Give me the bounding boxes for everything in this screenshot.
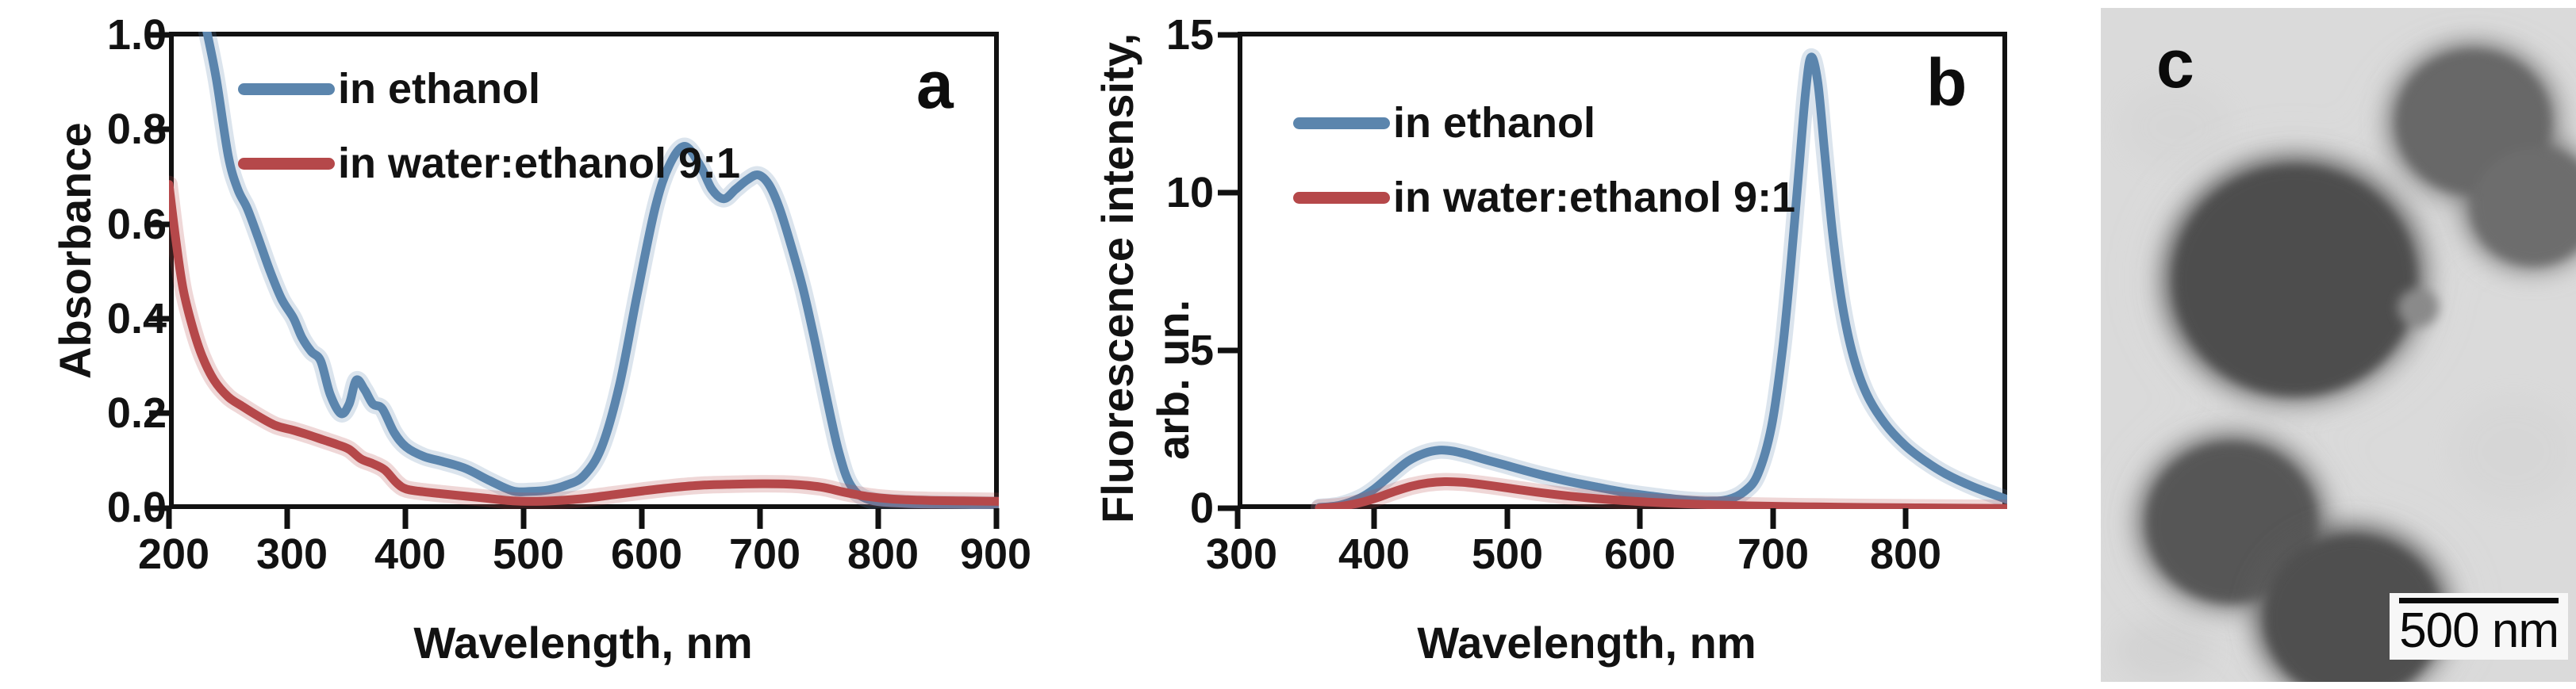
panel-c-tem-micrograph: c 500 nm — [2063, 0, 2576, 689]
figure-root: Absorbance 1.0 0.8 0.6 0.4 0.2 0.0 200 3… — [0, 0, 2576, 689]
panel-a-letter: a — [916, 52, 954, 118]
panel-a-ytick-0_8: 0.8 — [87, 108, 167, 151]
panel-b-xtick-400: 400 — [1338, 533, 1410, 576]
panel-b-y-axis-title: Fluorescence intensity, — [1092, 33, 1143, 523]
panel-b-xtick-300: 300 — [1206, 533, 1277, 576]
panel-b-x-axis-title: Wavelength, nm — [1417, 617, 1756, 668]
panel-a-x-axis-title: Wavelength, nm — [413, 617, 752, 668]
panel-b-xtick-700: 700 — [1737, 533, 1809, 576]
panel-b-ytick-10: 10 — [1134, 171, 1214, 214]
tem-image: c 500 nm — [2101, 8, 2576, 682]
panel-b-legend-swatch-ethanol — [1293, 117, 1390, 129]
scale-bar-label: 500 nm — [2399, 605, 2559, 656]
panel-a-xtick-700: 700 — [729, 533, 800, 576]
scale-bar-line — [2399, 598, 2559, 603]
panel-a-y-axis-title-text: Absorbance — [50, 122, 100, 379]
panel-a-ytick-0_2: 0.2 — [87, 392, 167, 434]
panel-b-ytick-5: 5 — [1134, 329, 1214, 372]
panel-a-legend-row-ethanol: in ethanol — [238, 67, 740, 110]
tem-particles — [2101, 8, 2576, 682]
panel-a-legend-label-ethanol: in ethanol — [338, 67, 540, 110]
panel-a-xtick-400: 400 — [374, 533, 446, 576]
panel-a-xtick-300: 300 — [256, 533, 328, 576]
panel-b-legend-row-water-ethanol: in water:ethanol 9:1 — [1293, 176, 1795, 219]
panel-b-legend-label-water-ethanol: in water:ethanol 9:1 — [1393, 176, 1795, 219]
panel-b-legend-swatch-water-ethanol — [1293, 192, 1390, 204]
panel-a-legend: in ethanol in water:ethanol 9:1 — [238, 67, 740, 216]
series-line-in-water-ethanol-9-1 — [169, 185, 999, 502]
panel-a-xtick-800: 800 — [847, 533, 919, 576]
panel-b-y-axis-title-line1: Fluorescence intensity, — [1092, 33, 1143, 523]
panel-b-ytick-0: 0 — [1134, 487, 1214, 530]
panel-a-ytick-0_6: 0.6 — [87, 203, 167, 246]
panel-a-legend-row-water-ethanol: in water:ethanol 9:1 — [238, 142, 740, 185]
panel-b-xtick-500: 500 — [1472, 533, 1543, 576]
panel-b-y-axis-title-line2: arb. un. — [1147, 300, 1199, 460]
panel-a-xtick-500: 500 — [493, 533, 564, 576]
panel-b-legend-row-ethanol: in ethanol — [1293, 101, 1795, 144]
panel-b-legend: in ethanol in water:ethanol 9:1 — [1293, 101, 1795, 251]
panel-b-letter: b — [1926, 49, 1967, 116]
panel-a-absorbance: Absorbance 1.0 0.8 0.6 0.4 0.2 0.0 200 3… — [0, 0, 1015, 689]
panel-b-fluorescence: Fluorescence intensity, arb. un. 15 10 5… — [1015, 0, 2023, 689]
panel-a-legend-label-water-ethanol: in water:ethanol 9:1 — [338, 142, 740, 185]
panel-a-ytick-0_4: 0.4 — [87, 297, 167, 340]
panel-a-xtick-600: 600 — [611, 533, 682, 576]
series-glow-1 — [169, 185, 999, 502]
panel-a-ytick-0_0: 0.0 — [87, 486, 167, 529]
panel-a-ytick-1_0: 1.0 — [87, 13, 167, 56]
panel-b-legend-label-ethanol: in ethanol — [1393, 101, 1595, 144]
scale-bar: 500 nm — [2390, 593, 2568, 660]
panel-b-ytick-15: 15 — [1134, 13, 1214, 56]
panel-a-legend-swatch-water-ethanol — [238, 158, 335, 170]
panel-a-xtick-200: 200 — [138, 533, 209, 576]
panel-b-xtick-600: 600 — [1604, 533, 1676, 576]
panel-a-legend-swatch-ethanol — [238, 83, 335, 95]
panel-c-letter: c — [2156, 30, 2194, 98]
panel-b-xtick-800: 800 — [1870, 533, 1941, 576]
panel-b-y-axis-title-2: arb. un. — [1147, 300, 1199, 460]
panel-a-y-axis-title: Absorbance — [49, 122, 101, 379]
